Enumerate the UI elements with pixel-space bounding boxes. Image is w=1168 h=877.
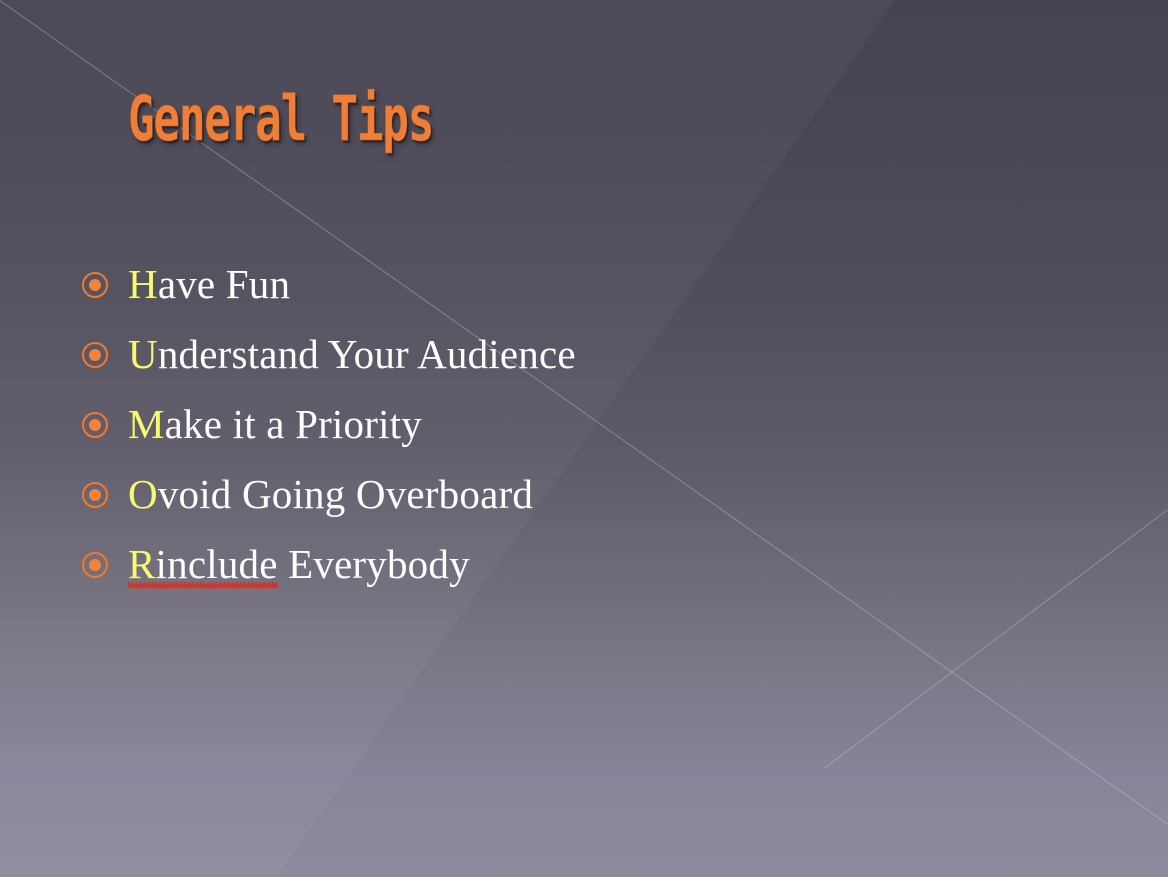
list-item[interactable]: Have Fun bbox=[80, 250, 1100, 320]
list-item-text: Have Fun bbox=[128, 263, 290, 306]
target-bullet-icon bbox=[82, 412, 108, 438]
target-bullet-icon bbox=[82, 272, 108, 298]
spellcheck-squiggle-icon bbox=[128, 583, 278, 590]
list-item-rest: ake it a Priority bbox=[165, 401, 422, 447]
list-item[interactable]: Make it a Priority bbox=[80, 390, 1100, 460]
target-bullet-icon bbox=[82, 552, 108, 578]
list-item-trailing: Everybody bbox=[278, 541, 470, 587]
list-item-rest: include bbox=[156, 541, 278, 587]
list-item-text: Rinclude Everybody bbox=[128, 543, 470, 586]
first-letter: H bbox=[128, 261, 158, 307]
target-bullet-icon bbox=[82, 342, 108, 368]
first-letter: M bbox=[128, 401, 165, 447]
slide-canvas: General Tips Have Fun Understand Your Au… bbox=[0, 0, 1168, 877]
list-item[interactable]: Ovoid Going Overboard bbox=[80, 460, 1100, 530]
list-item-rest: ave Fun bbox=[158, 261, 290, 307]
slide-title: General Tips bbox=[128, 88, 433, 151]
list-item-rest: void Going Overboard bbox=[158, 471, 533, 517]
list-item[interactable]: Rinclude Everybody bbox=[80, 530, 1100, 600]
first-letter: R bbox=[128, 541, 156, 587]
bullet-list: Have Fun Understand Your Audience Make i… bbox=[80, 250, 1100, 600]
list-item-text: Make it a Priority bbox=[128, 403, 422, 446]
list-item-text: Ovoid Going Overboard bbox=[128, 473, 533, 516]
spellcheck-misspelled-word[interactable]: Rinclude bbox=[128, 543, 278, 586]
list-item[interactable]: Understand Your Audience bbox=[80, 320, 1100, 390]
list-item-rest: nderstand Your Audience bbox=[158, 331, 576, 377]
first-letter: O bbox=[128, 471, 158, 517]
target-bullet-icon bbox=[82, 482, 108, 508]
list-item-text: Understand Your Audience bbox=[128, 333, 576, 376]
first-letter: U bbox=[128, 331, 158, 377]
